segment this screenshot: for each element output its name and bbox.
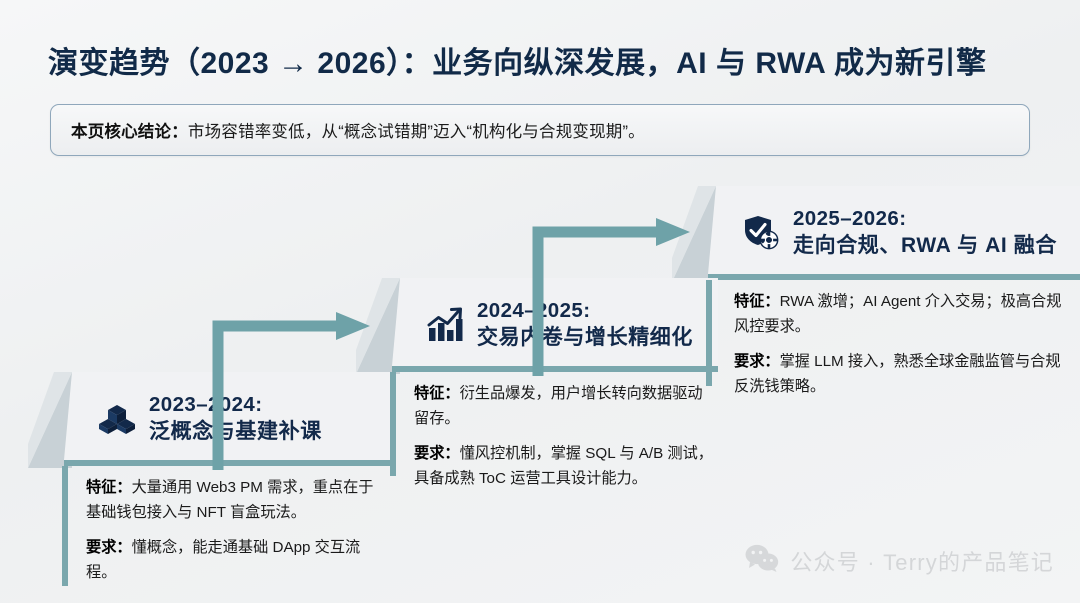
wechat-icon <box>745 544 779 577</box>
connector-2-to-3 <box>532 218 692 378</box>
shield-gear-icon <box>742 214 780 252</box>
step-1-p1-label: 特征： <box>86 479 132 496</box>
page-title: 演变趋势（2023 → 2026）：业务向纵深发展，AI 与 RWA 成为新引擎 <box>48 38 1048 82</box>
step-3-header-content: 2025–2026: 走向合规、RWA 与 AI 融合 <box>708 186 1080 280</box>
step-2-left-rail <box>390 372 396 476</box>
step-3-header-plate: 2025–2026: 走向合规、RWA 与 AI 融合 <box>708 186 1080 280</box>
step-2-p2-label: 要求： <box>414 445 460 462</box>
core-conclusion-text: 本页核心结论：市场容错率变低，从“概念试错期”迈入“机构化与合规变现期”。 <box>71 118 645 142</box>
step-1-left-rail <box>62 466 68 586</box>
step-3-left-rail <box>706 280 712 386</box>
core-conclusion-label: 本页核心结论： <box>71 123 188 141</box>
step-3-years: 2025–2026: <box>793 206 1057 232</box>
step-1-body: 特征：大量通用 Web3 PM 需求，重点在于基础钱包接入与 NFT 盲盒玩法。… <box>64 466 390 586</box>
step-1-paragraph-1: 特征：大量通用 Web3 PM 需求，重点在于基础钱包接入与 NFT 盲盒玩法。 <box>86 476 386 525</box>
step-3-p2-text: 掌握 LLM 接入，熟悉全球金融监管与合规反洗钱策略。 <box>734 353 1061 395</box>
watermark: 公众号 · Terry的产品笔记 <box>745 544 1054 577</box>
step-3-name: 走向合规、RWA 与 AI 融合 <box>793 233 1057 260</box>
watermark-text: 公众号 · Terry的产品笔记 <box>790 545 1054 577</box>
slide-canvas: 演变趋势（2023 → 2026）：业务向纵深发展，AI 与 RWA 成为新引擎… <box>0 0 1080 603</box>
growth-chart-icon <box>426 306 464 344</box>
step-3-paragraph-2: 要求：掌握 LLM 接入，熟悉全球金融监管与合规反洗钱策略。 <box>734 350 1072 399</box>
connector-1-to-2 <box>212 312 372 472</box>
step-2-paragraph-1: 特征：衍生品爆发，用户增长转向数据驱动留存。 <box>414 382 714 431</box>
step-3-heading: 2025–2026: 走向合规、RWA 与 AI 融合 <box>793 206 1057 259</box>
step-1-paragraph-2: 要求：懂概念，能走通基础 DApp 交互流程。 <box>86 536 386 585</box>
step-1-p2-label: 要求： <box>86 539 132 556</box>
step-2-p1-label: 特征： <box>414 385 460 402</box>
core-conclusion-banner: 本页核心结论：市场容错率变低，从“概念试错期”迈入“机构化与合规变现期”。 <box>50 104 1030 156</box>
step-2-body: 特征：衍生品爆发，用户增长转向数据驱动留存。 要求：懂风控机制，掌握 SQL 与… <box>392 372 718 497</box>
step-3-body: 特征：RWA 激增；AI Agent 介入交易；极高合规风控要求。 要求：掌握 … <box>708 280 1080 412</box>
step-3-p1-text: RWA 激增；AI Agent 介入交易；极高合规风控要求。 <box>734 293 1061 335</box>
step-2-p2-text: 懂风控机制，掌握 SQL 与 A/B 测试，具备成熟 ToC 运营工具设计能力。 <box>414 445 713 487</box>
step-3-paragraph-1: 特征：RWA 激增；AI Agent 介入交易；极高合规风控要求。 <box>734 290 1072 339</box>
core-conclusion-body: 市场容错率变低，从“概念试错期”迈入“机构化与合规变现期”。 <box>188 123 645 141</box>
step-2-paragraph-2: 要求：懂风控机制，掌握 SQL 与 A/B 测试，具备成熟 ToC 运营工具设计… <box>414 442 714 491</box>
blocks-icon <box>98 400 136 438</box>
